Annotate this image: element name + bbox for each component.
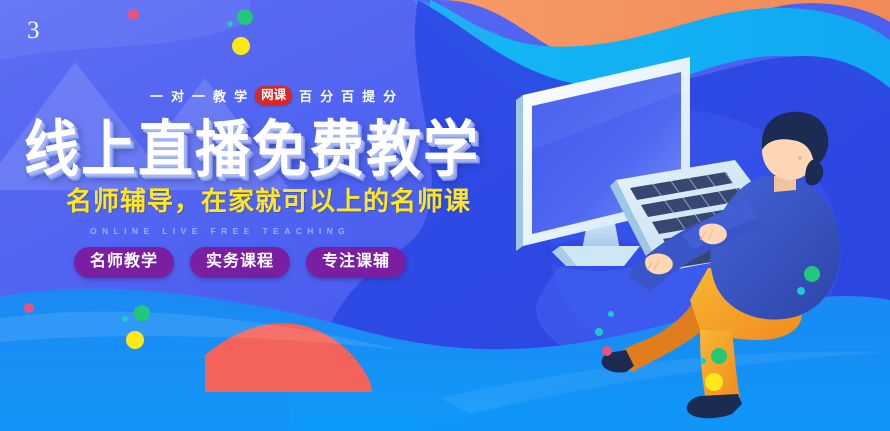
eyebrow-char-9: 提: [362, 86, 376, 105]
promo-banner: 3 一 对 一 教 学 网课 百 分 百 提 分 线上直播免费教学 名师辅导，在…: [0, 0, 890, 431]
eyebrow-char-4: 教: [213, 86, 227, 105]
eyebrow-line: 一 对 一 教 学 网课 百 分 百 提 分: [150, 86, 397, 105]
dot-cyan-mid3: [700, 358, 706, 364]
online-course-badge: 网课: [255, 86, 292, 104]
eyebrow-char-3: 一: [192, 86, 206, 105]
eyebrow-char-5: 学: [234, 86, 248, 105]
eyebrow-char-2: 对: [171, 86, 185, 105]
dot-cyan-mid: [608, 311, 614, 317]
feature-tag-3[interactable]: 专注课辅: [306, 247, 406, 278]
dot-cyan-mid2: [595, 328, 603, 336]
dot-yellow-mid: [705, 373, 723, 391]
subtitle: 名师辅导，在家就可以上的名师课: [66, 188, 471, 214]
eyebrow-char-7: 分: [320, 86, 334, 105]
feature-tag-1[interactable]: 名师教学: [74, 247, 174, 278]
eyebrow-char-10: 分: [383, 86, 397, 105]
dot-cyan-right: [797, 287, 805, 295]
dot-green-mid: [711, 348, 727, 364]
feature-tag-list: 名师教学 实务课程 专注课辅: [74, 247, 406, 278]
eyebrow-char-6: 百: [299, 86, 313, 105]
eyebrow-char-1: 一: [150, 86, 164, 105]
text-content: 一 对 一 教 学 网课 百 分 百 提 分 线上直播免费教学 名师辅导，在家就…: [0, 0, 520, 431]
headline: 线上直播免费教学: [24, 119, 480, 181]
dot-green-right: [804, 266, 820, 282]
dot-pink-mid: [602, 346, 612, 356]
feature-tag-2[interactable]: 实务课程: [190, 247, 290, 278]
english-tagline: ONLINE LIVE FREE TEACHING: [90, 226, 350, 236]
eyebrow-char-8: 百: [341, 86, 355, 105]
